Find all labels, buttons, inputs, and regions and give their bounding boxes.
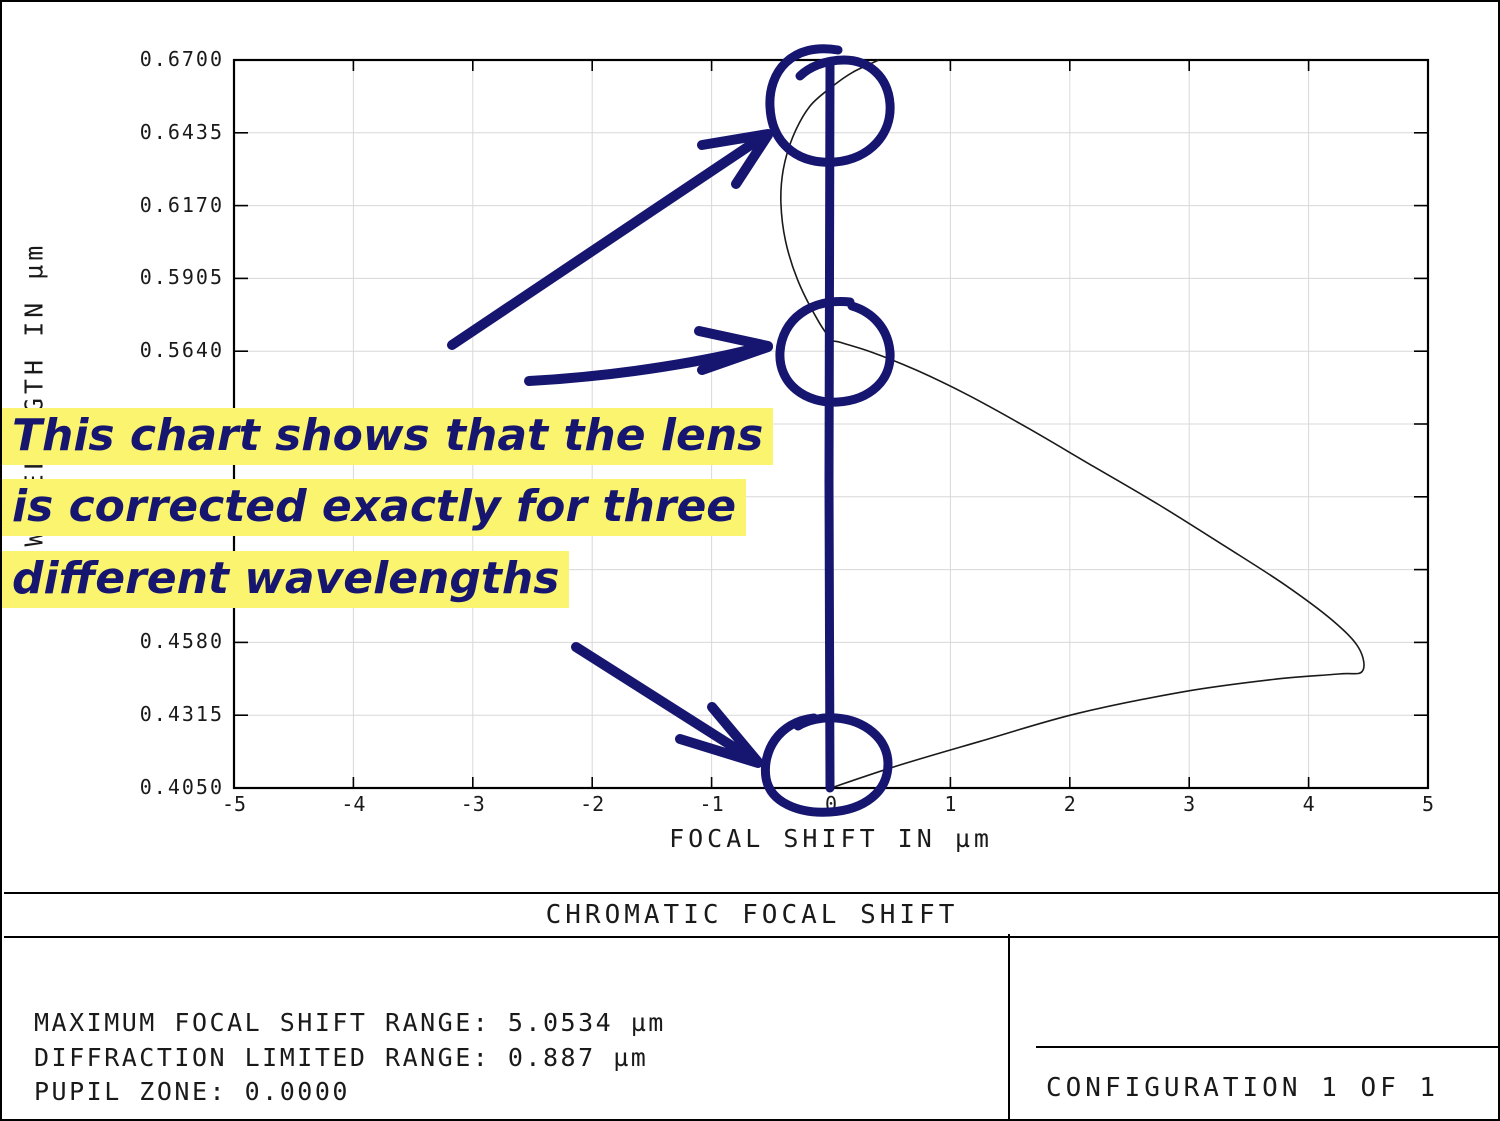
specs-list: MAXIMUM FOCAL SHIFT RANGE: 5.0534 µmDIFF… [34, 1006, 666, 1110]
spec-line: PUPIL ZONE: 0.0000 [34, 1075, 666, 1110]
annotation-arrow-top [452, 134, 768, 345]
circle-crossing-middle [780, 302, 890, 403]
spec-line: DIFFRACTION LIMITED RANGE: 0.887 µm [34, 1041, 666, 1076]
title-block: CHROMATIC FOCAL SHIFT MAXIMUM FOCAL SHIF… [4, 892, 1500, 1121]
specs-panel: MAXIMUM FOCAL SHIFT RANGE: 5.0534 µmDIFF… [4, 934, 1010, 1119]
config-panel-lower: CONFIGURATION 1 OF 1 [1036, 1046, 1500, 1119]
chart-canvas [2, 2, 1500, 892]
chart-title: CHROMATIC FOCAL SHIFT [546, 900, 959, 930]
config-panel-upper [1036, 934, 1500, 1048]
spec-line: MAXIMUM FOCAL SHIFT RANGE: 5.0534 µm [34, 1006, 666, 1041]
drawing-sheet: 0.40500.43150.45800.48450.51100.53750.56… [0, 0, 1500, 1121]
chart-plot-area: 0.40500.43150.45800.48450.51100.53750.56… [2, 2, 1500, 892]
annotation-arrow-bottom [576, 647, 758, 763]
title-block-body: MAXIMUM FOCAL SHIFT RANGE: 5.0534 µmDIFF… [4, 934, 1500, 1121]
chart-title-bar: CHROMATIC FOCAL SHIFT [4, 892, 1500, 938]
configuration-label: CONFIGURATION 1 OF 1 [1036, 1073, 1439, 1119]
zero-axis-marker [829, 64, 830, 788]
config-panel: CONFIGURATION 1 OF 1 [1008, 934, 1500, 1119]
annotation-arrow-middle [529, 331, 768, 381]
